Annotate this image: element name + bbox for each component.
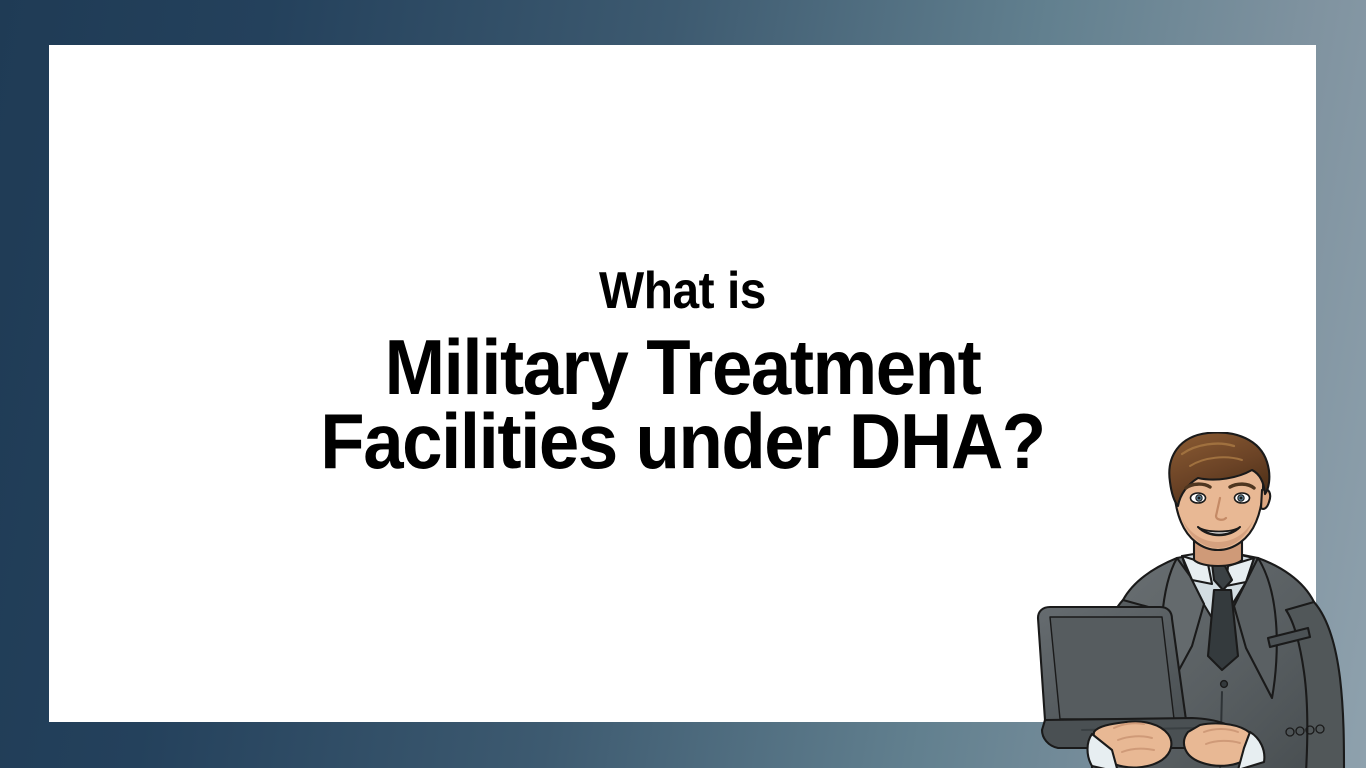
slide-canvas: What is Military Treatment Facilities un… xyxy=(0,0,1366,768)
headline-line-2: Facilities under DHA? xyxy=(93,399,1271,483)
hands xyxy=(1088,722,1265,768)
slide-content-panel: What is Military Treatment Facilities un… xyxy=(49,45,1316,722)
headline-kicker: What is xyxy=(100,262,1266,320)
cuff-buttons xyxy=(1286,725,1324,736)
